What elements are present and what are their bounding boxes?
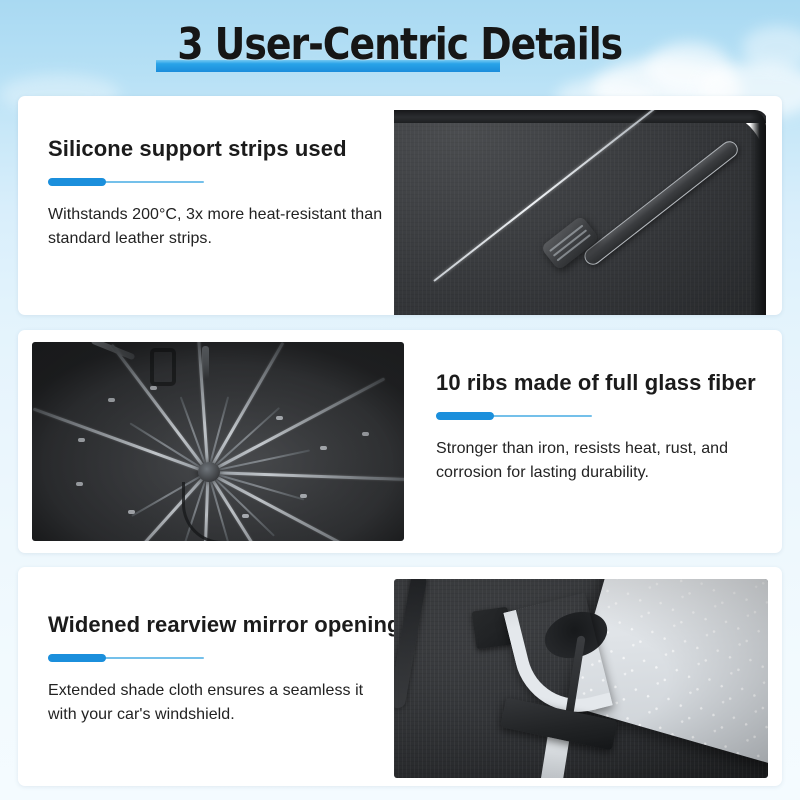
feature-body: Extended shade cloth ensures a seamless … — [48, 679, 384, 727]
accent-divider — [48, 178, 204, 186]
page-header: 3 User-Centric Details — [0, 0, 800, 96]
page-title-text: 3 User-Centric Details — [178, 14, 623, 76]
fabric-weave-texture — [394, 110, 766, 315]
page-title: 3 User-Centric Details — [0, 14, 800, 76]
divider-thick-segment — [436, 412, 494, 420]
feature-image-mirror-opening — [394, 579, 768, 778]
feature-heading: Silicone support strips used — [48, 136, 384, 162]
divider-thick-segment — [48, 178, 106, 186]
divider-thick-segment — [48, 654, 106, 662]
folded-rib-bar — [202, 346, 209, 380]
accent-divider — [436, 412, 592, 420]
feature-image-silicone-strip — [394, 110, 766, 315]
panel-right-rim — [750, 110, 766, 315]
panel-top-edge — [394, 110, 766, 123]
photo-vignette — [394, 579, 768, 778]
handle-clip — [150, 348, 176, 386]
feature-card: Silicone support strips used Withstands … — [18, 96, 782, 315]
feature-image-umbrella-ribs — [32, 342, 404, 541]
feature-text-column: Widened rearview mirror opening Extended… — [18, 567, 394, 786]
feature-body: Withstands 200°C, 3x more heat-resistant… — [48, 203, 384, 251]
feature-text-column: 10 ribs made of full glass fiber Stronge… — [404, 330, 780, 553]
feature-card: 10 ribs made of full glass fiber Stronge… — [18, 330, 782, 553]
feature-heading: 10 ribs made of full glass fiber — [436, 370, 770, 396]
umbrella-canopy — [32, 342, 404, 541]
accent-divider — [48, 654, 204, 662]
feature-card: Widened rearview mirror opening Extended… — [18, 567, 782, 786]
infographic-page: 3 User-Centric Details Silicone support … — [0, 0, 800, 800]
feature-body: Stronger than iron, resists heat, rust, … — [436, 437, 770, 485]
rib-hub — [198, 462, 220, 482]
feature-text-column: Silicone support strips used Withstands … — [18, 96, 394, 315]
feature-heading: Widened rearview mirror opening — [48, 612, 384, 638]
